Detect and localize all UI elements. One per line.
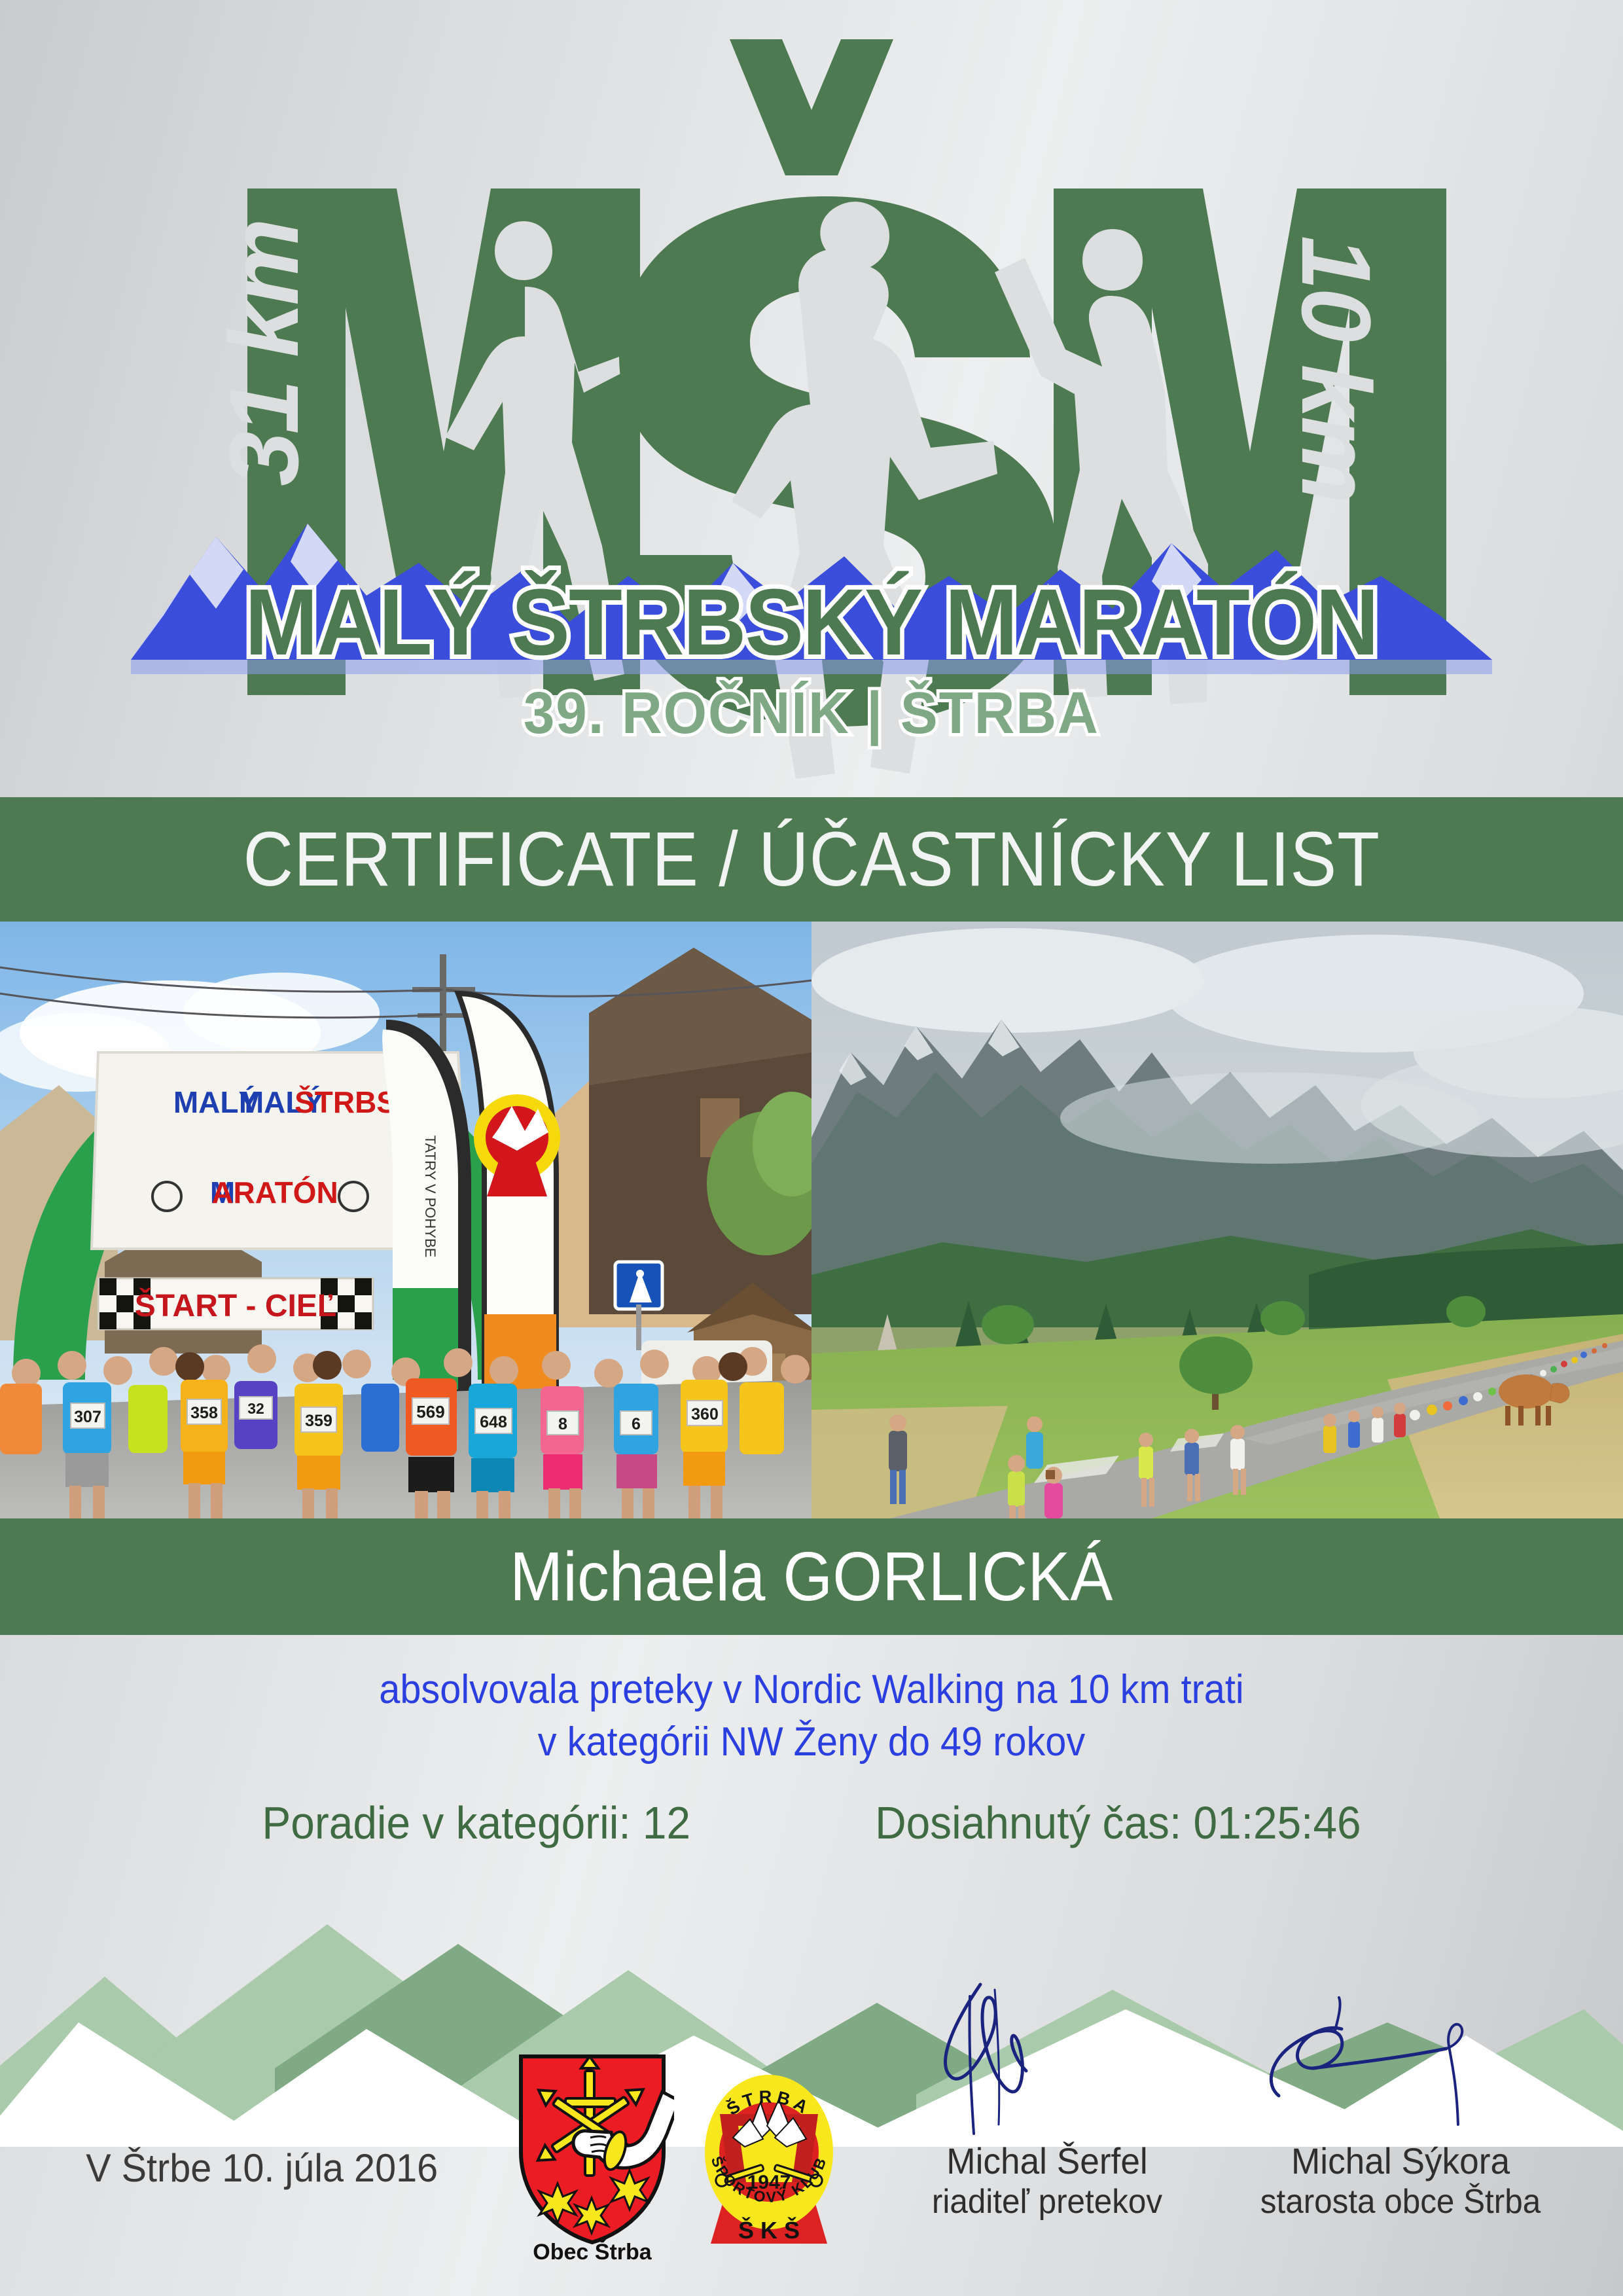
- svg-text:MALÝ ŠTRBSKÝ MARATÓN: MALÝ ŠTRBSKÝ MARATÓN: [245, 569, 1378, 675]
- svg-text:32: 32: [247, 1400, 264, 1417]
- finish-time: Dosiahnutý čas: 01:25:46: [875, 1797, 1361, 1849]
- certificate-title: CERTIFICATE / ÚČASTNÍCKY LIST: [243, 815, 1380, 904]
- certificate-page: 31 km 10 km: [0, 0, 1623, 2296]
- director-role: riaditeľ pretekov: [855, 2182, 1240, 2221]
- svg-text:569: 569: [416, 1402, 444, 1422]
- issue-date: V Štrbe 10. júla 2016: [86, 2145, 438, 2191]
- logo-edition: 39. ROČNÍK | ŠTRBA: [524, 680, 1099, 747]
- description-line-1: absolvovala preteky v Nordic Walking na …: [57, 1664, 1566, 1716]
- logo-badge-10km: 10 km: [1281, 236, 1391, 501]
- svg-text:6: 6: [632, 1415, 641, 1433]
- svg-text:648: 648: [480, 1413, 507, 1431]
- svg-text:359: 359: [305, 1412, 332, 1430]
- sks-initials: Š K Š: [738, 2216, 800, 2244]
- photo-strip: MALÝ ŠTRBSKÝ MALÝ M ARATÓN: [0, 922, 1623, 1518]
- event-logo-block: 31 km 10 km: [0, 0, 1623, 797]
- svg-text:8: 8: [558, 1415, 567, 1433]
- svg-text:ŠTART - CIEĽ: ŠTART - CIEĽ: [135, 1287, 336, 1323]
- certificate-title-band: CERTIFICATE / ÚČASTNÍCKY LIST: [0, 797, 1623, 922]
- mayor-role: starosta obce Štrba: [1208, 2182, 1594, 2221]
- sks-strba-club-logo: 1947 ŠTRBA ŠPORTOVÝ KLUB Š K Š: [687, 2047, 851, 2263]
- signature-mark-mayor: [1250, 1970, 1551, 2140]
- director-name: Michal Šerfel: [855, 2140, 1240, 2182]
- svg-text:360: 360: [691, 1405, 719, 1424]
- participant-name: Michaela GORLICKÁ: [510, 1537, 1113, 1617]
- svg-text:ARATÓN: ARATÓN: [211, 1175, 338, 1210]
- svg-text:31 km: 31 km: [209, 221, 319, 486]
- photo-race-start: MALÝ ŠTRBSKÝ MALÝ M ARATÓN: [0, 922, 811, 1518]
- svg-text:10 km: 10 km: [1281, 236, 1391, 501]
- category-rank: Poradie v kategórii: 12: [262, 1797, 690, 1849]
- mayor-name: Michal Sýkora: [1208, 2140, 1594, 2182]
- svg-text:307: 307: [74, 1408, 101, 1426]
- svg-text:39. ROČNÍK | ŠTRBA: 39. ROČNÍK | ŠTRBA: [524, 680, 1099, 747]
- signature-block-director: Michal Šerfel riaditeľ pretekov: [844, 1970, 1250, 2221]
- logo-event-name: MALÝ ŠTRBSKÝ MARATÓN: [245, 569, 1378, 675]
- obec-strba-coat-of-arms: Obec Štrba: [510, 2047, 674, 2263]
- msm-logo-graphic: 31 km 10 km: [0, 0, 1623, 797]
- participant-description: absolvovala preteky v Nordic Walking na …: [0, 1635, 1623, 1910]
- description-line-2: v kategórii NW Ženy do 49 rokov: [57, 1716, 1566, 1768]
- participant-name-band: Michaela GORLICKÁ: [0, 1518, 1623, 1635]
- photo-tatra-road: [811, 922, 1623, 1518]
- logo-badge-31km: 31 km: [209, 221, 319, 486]
- signature-mark-director: [897, 1970, 1198, 2140]
- svg-text:MALÝ: MALÝ: [173, 1085, 259, 1119]
- svg-text:358: 358: [190, 1404, 218, 1422]
- result-row: Poradie v kategórii: 12 Dosiahnutý čas: …: [48, 1797, 1574, 1849]
- signature-block-mayor: Michal Sýkora starosta obce Štrba: [1198, 1970, 1603, 2221]
- svg-text:TATRY V POHYBE: TATRY V POHYBE: [422, 1136, 438, 1258]
- obec-crest-label: Obec Štrba: [533, 2239, 652, 2263]
